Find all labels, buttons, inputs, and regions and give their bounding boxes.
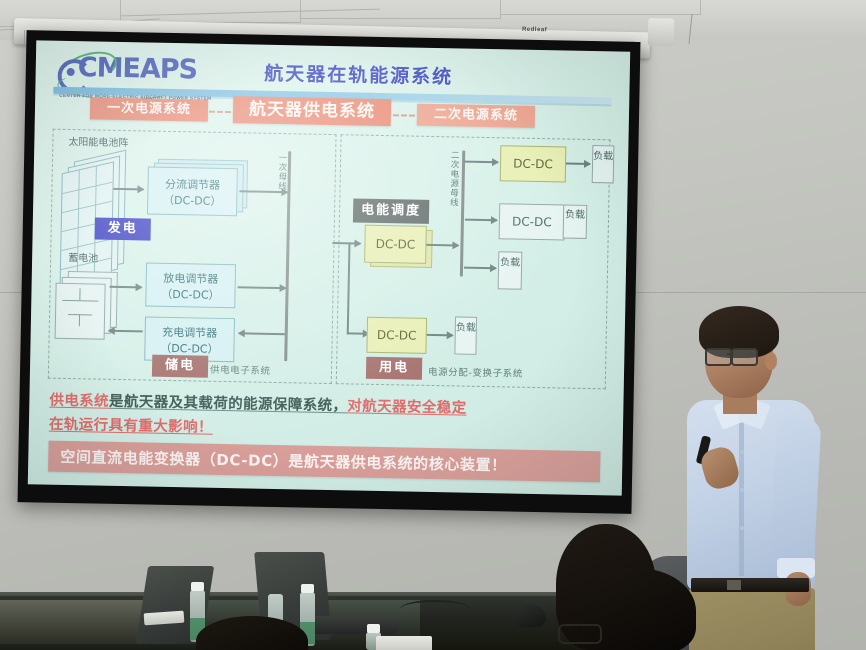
audience-glasses — [558, 624, 602, 644]
presenter-glasses-bridge — [727, 353, 733, 355]
load-box-3: 负载 — [498, 251, 523, 289]
tag-link-left — [209, 111, 231, 114]
presenter-belt-buckle — [727, 580, 741, 590]
presenter-shirt-placket — [739, 418, 744, 576]
shunt-regulator-line2: （DC-DC） — [148, 192, 236, 210]
chip-power-generation: 发电 — [95, 217, 151, 240]
load-box-2: 负载 — [563, 204, 588, 238]
secondary-bus-label: 二次电源母线 — [447, 150, 460, 207]
water-bottle-3-cap — [301, 584, 314, 593]
presenter-ear — [765, 352, 777, 370]
chip-power-scheduling: 电能调度 — [353, 198, 429, 223]
slide-content: CMEAPS CENTER FOR MORE-ELECTRIC AIRCRAFT… — [28, 40, 630, 495]
cable — [400, 600, 470, 618]
presenter-glasses-left-lens — [705, 348, 732, 366]
key-message-text: 空间直流电能变换器（DC-DC）是航天器供电系统的核心装置！ — [60, 446, 507, 476]
discharge-regulator-line2: （DC-DC） — [146, 286, 234, 304]
laptop-base-right[interactable] — [308, 616, 404, 634]
shunt-regulator-box: 分流调节器 （DC-DC） — [147, 167, 238, 217]
load-box-1: 负载 — [592, 145, 615, 183]
water-bottle-1-cap — [191, 582, 204, 591]
subsystem-left-label: 供电电子系统 — [210, 362, 271, 377]
power-system-diagram: 太阳能电池阵 分流调节器 （DC-DC） — [44, 125, 615, 398]
arrow-charge-to-battery — [109, 330, 143, 332]
chip-energy-storage: 储电 — [152, 355, 208, 378]
dcdc-branch1: DC-DC — [500, 145, 567, 182]
key-message-banner: 空间直流电能变换器（DC-DC）是航天器供电系统的核心装置！ — [48, 441, 600, 483]
conference-room-scene: Redleaf CMEAPS CENTER FOR MORE-ELECTRIC … — [0, 0, 866, 650]
charge-regulator-line1: 充电调节器 — [146, 323, 234, 341]
slide-title: 航天器在轨能源系统 — [233, 58, 483, 90]
battery-label: 蓄电池 — [68, 249, 98, 265]
tag-link-right — [393, 114, 415, 117]
discharge-regulator-line1: 放电调节器 — [147, 270, 235, 288]
roller-end-cap — [648, 18, 675, 47]
tag-spacecraft-power-system: 航天器供电系统 — [233, 96, 391, 126]
projection-screen: CMEAPS CENTER FOR MORE-ELECTRIC AIRCRAFT… — [28, 40, 630, 495]
arrow-bus-to-scheduling — [332, 242, 360, 244]
conclusion-line2: 在轨运行具有重大影响！ — [49, 413, 213, 437]
papers — [376, 636, 432, 650]
load-box-4: 负载 — [454, 316, 477, 354]
projector-brand-label: Redleaf — [522, 27, 547, 34]
subsystem-right-label: 电源分配-变换子系统 — [428, 364, 523, 380]
conclusion-highlight-2: 对航天器安全稳定 — [347, 398, 466, 416]
dcdc-bottom: DC-DC — [366, 317, 427, 354]
primary-bus-label: 一次母线 — [275, 153, 288, 191]
tag-secondary-power-system: 二次电源系统 — [417, 104, 535, 128]
conclusion-body-1: 是航天器及其载荷的能源保障系统， — [109, 394, 348, 415]
battery-cell-front — [55, 283, 106, 340]
conclusion-highlight-1: 供电系统 — [49, 393, 109, 410]
presenter-glasses-right-lens — [731, 348, 758, 366]
tag-primary-power-system: 一次电源系统 — [90, 97, 208, 121]
chip-power-consumption: 用电 — [366, 357, 422, 380]
discharge-regulator-box: 放电调节器 （DC-DC） — [145, 262, 236, 308]
presenter-belt — [691, 578, 809, 592]
water-bottle-4-cap — [367, 624, 380, 633]
scheduling-dcdc-box: DC-DC — [364, 225, 427, 264]
shunt-regulator-line1: 分流调节器 — [148, 176, 236, 194]
dcdc-branch2: DC-DC — [499, 203, 566, 240]
solar-array-label: 太阳能电池阵 — [68, 133, 128, 149]
roller-wire-left — [24, 30, 25, 44]
computer-mouse[interactable] — [512, 605, 546, 627]
